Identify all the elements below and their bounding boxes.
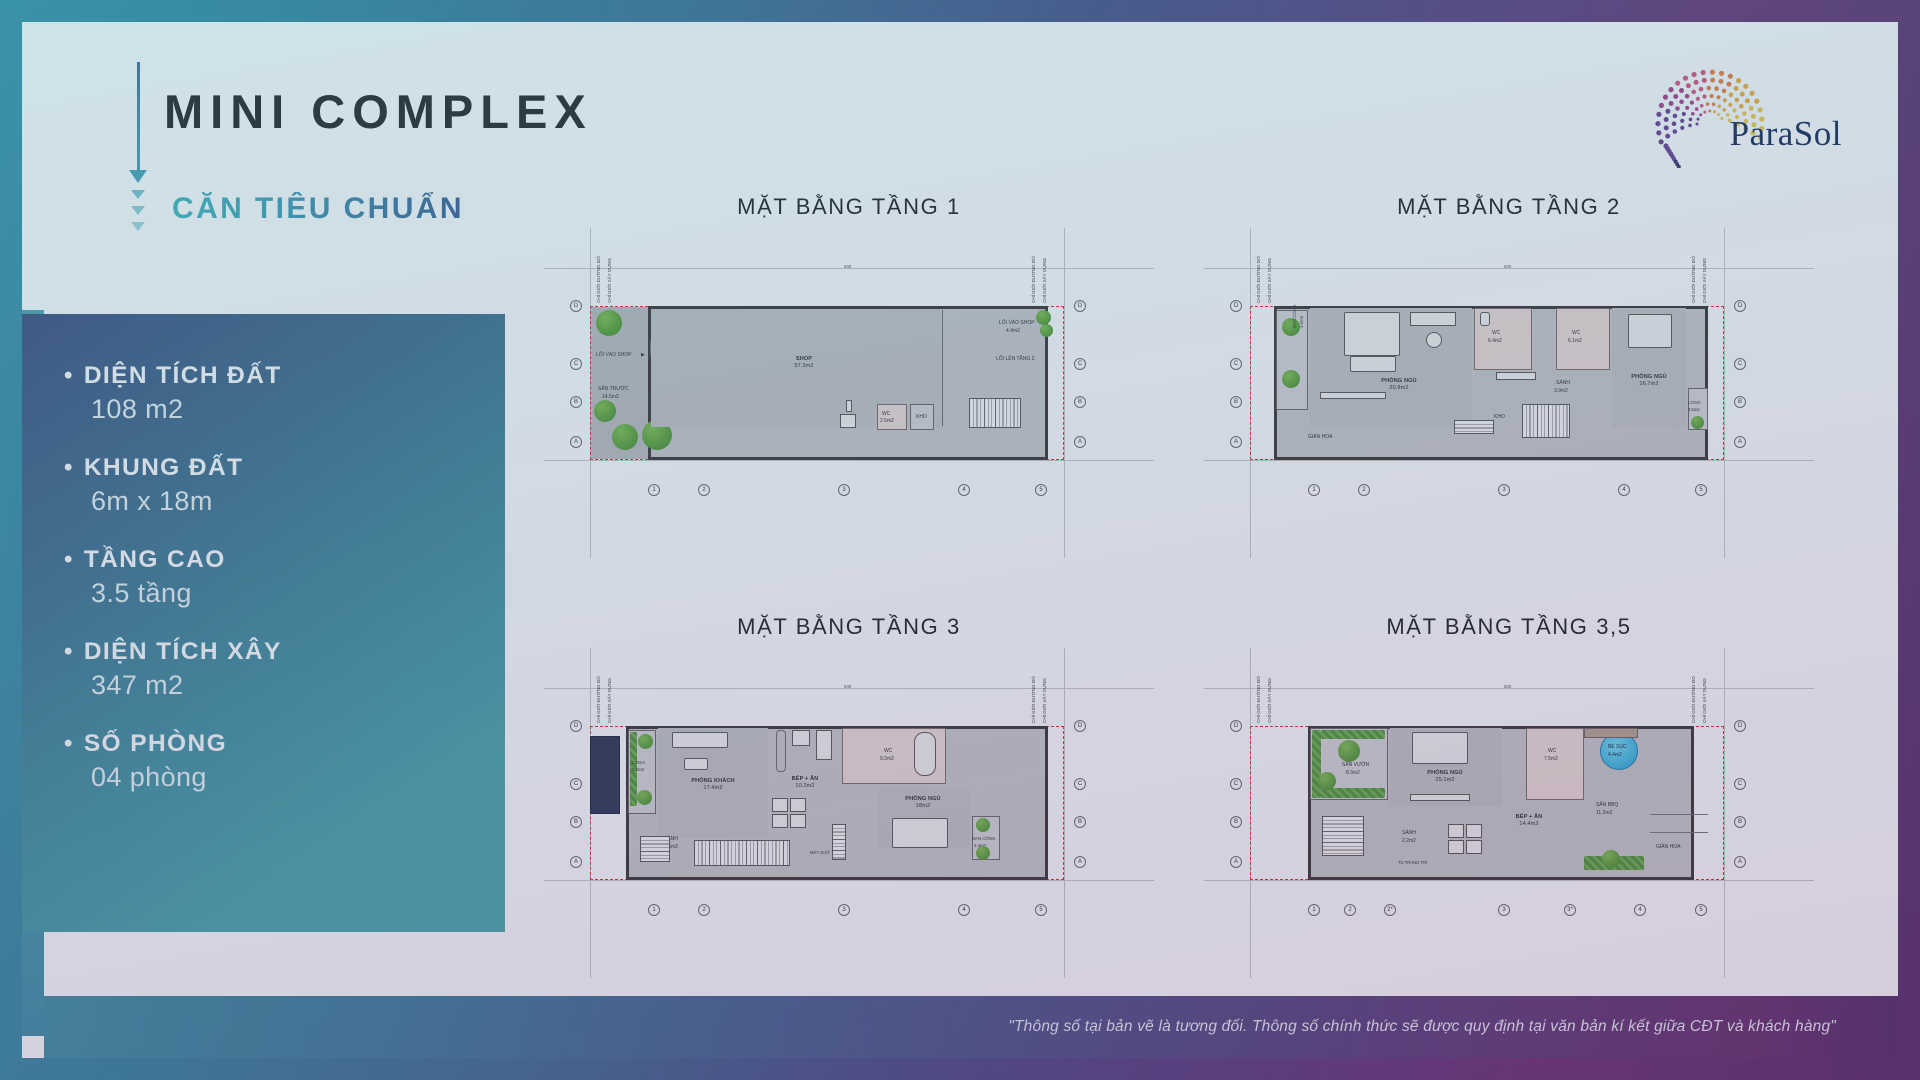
room-name: WC: [1572, 330, 1580, 336]
room-name: GIÀN HOA: [1656, 844, 1680, 850]
axis-bubble: 5: [1035, 904, 1047, 916]
arrow-rule: [137, 62, 140, 172]
edge-label-road: CHỈ GIỚI ĐƯỜNG ĐỎ: [1031, 256, 1036, 303]
axis-bubble: D: [1074, 300, 1086, 312]
edge-label-road: CHỈ GIỚI ĐƯỜNG ĐỎ: [1691, 256, 1696, 303]
floor-plan-2[interactable]: MẶT BẰNG TẦNG 2 600 CHỈ GIỚI ĐƯỜNG ĐỎ: [1204, 194, 1814, 574]
axis-bubble: B: [1734, 816, 1746, 828]
overall-dimension: 600: [1504, 264, 1511, 269]
axis-bubble: 5: [1035, 484, 1047, 496]
room-name: SÂN VƯỜN: [1342, 762, 1369, 768]
axis-bubble: 3*: [1564, 904, 1576, 916]
floor-plan-2-drawing: 600 CHỈ GIỚI ĐƯỜNG ĐỎ CHỈ GIỚI XÂY DỰNG …: [1204, 228, 1814, 558]
axis-bubble: 1: [1308, 484, 1320, 496]
room-name: BỂ SỤC: [1608, 744, 1627, 750]
axis-bubble: 4: [1634, 904, 1646, 916]
floor-plan-1[interactable]: MẶT BẰNG TẦNG 1 600 CHỈ G: [544, 194, 1154, 574]
room-label-bedroom-2: PHÒNG NGỦ 16.7m2: [1604, 374, 1694, 388]
spec-value: 3.5 tầng: [91, 578, 505, 609]
axis-bubble: C: [1074, 358, 1086, 370]
room-area: 3.5m2: [1688, 407, 1700, 412]
room-name: BẾP + ĂN: [760, 776, 850, 783]
spec-item-floors: • TẦNG CAO 3.5 tầng: [64, 546, 505, 609]
spec-item-build-area: • DIỆN TÍCH XÂY 347 m2: [64, 638, 505, 701]
axis-bubble: B: [570, 396, 582, 408]
axis-bubble: 3: [838, 484, 850, 496]
floor-plan-3-drawing: 600 CHỈ GIỚI ĐƯỜNG ĐỎ CHỈ GIỚI XÂY DỰNG …: [544, 648, 1154, 978]
spec-item-rooms: • SỐ PHÒNG 04 phòng: [64, 730, 505, 793]
axis-bubble: A: [1734, 436, 1746, 448]
entry-label-stair: LỐI LÊN TẦNG 2: [996, 356, 1035, 362]
slide-header: MINI COMPLEX CĂN TIÊU CHUẨN: [22, 22, 582, 292]
floor-plan-3-5-drawing: 600 CHỈ GIỚI ĐƯỜNG ĐỎ CHỈ GIỚI XÂY DỰNG …: [1204, 648, 1814, 978]
overall-dimension: 600: [844, 684, 851, 689]
axis-bubble: A: [570, 436, 582, 448]
axis-bubble: B: [1230, 816, 1242, 828]
room-name: PHÒNG NGỦ: [1604, 374, 1694, 381]
room-area: 20.8m2: [1389, 385, 1408, 391]
axis-bubble: 5: [1695, 484, 1707, 496]
room-name: GIÀN HOA: [1308, 434, 1332, 440]
floor-plan-1-title: MẶT BẰNG TẦNG 1: [544, 194, 1154, 220]
room-area: 8.3m2: [1346, 770, 1360, 776]
floor-plan-3-5-title: MẶT BẰNG TẦNG 3,5: [1204, 614, 1814, 640]
spec-label: KHUNG ĐẤT: [84, 454, 244, 482]
room-label-kitchen: BẾP + ĂN 14.4m2: [1484, 814, 1574, 828]
chevron-down-icon: [131, 222, 145, 231]
room-area: 14.5m2: [602, 394, 619, 400]
entry-area: 4.4m2: [1006, 328, 1020, 334]
axis-bubble: D: [570, 720, 582, 732]
axis-bubble: 4: [1618, 484, 1630, 496]
bullet-icon: •: [64, 640, 74, 664]
spec-label: SỐ PHÒNG: [84, 730, 227, 758]
room-area: 7.5m2: [1544, 756, 1558, 762]
axis-bubble: B: [570, 816, 582, 828]
room-name: LOGIA: [632, 760, 645, 765]
edge-label-build: CHỈ GIỚI XÂY DỰNG: [1267, 678, 1272, 723]
logo-wordmark: ParaSol: [1730, 114, 1842, 154]
edge-label-road: CHỈ GIỚI ĐƯỜNG ĐỎ: [1691, 676, 1696, 723]
room-area: 4.4m2: [1608, 752, 1622, 758]
room-area: 3.6m2: [1299, 316, 1304, 328]
arrow-head-icon: [129, 170, 147, 183]
axis-bubble: A: [570, 856, 582, 868]
room-name: SẢNH: [1402, 830, 1416, 836]
edge-label-road: CHỈ GIỚI ĐƯỜNG ĐỎ: [596, 676, 601, 723]
room-name: KHO: [916, 414, 927, 420]
bullet-icon: •: [64, 456, 74, 480]
room-name: KHO: [1494, 414, 1505, 420]
axis-bubble: C: [1230, 778, 1242, 790]
room-label-shop: SHOP 57.3m2: [744, 356, 864, 370]
room-area: 25.1m2: [1435, 777, 1454, 783]
edge-label-road: CHỈ GIỚI ĐƯỜNG ĐỎ: [1256, 676, 1261, 723]
axis-bubble: C: [570, 358, 582, 370]
spec-value: 6m x 18m: [91, 486, 505, 517]
entry-label-shop-2: LỐI VÀO SHOP: [999, 320, 1035, 326]
axis-bubble: C: [1230, 358, 1242, 370]
spec-value: 347 m2: [91, 670, 505, 701]
axis-bubble: C: [1734, 358, 1746, 370]
room-area: 16.7m2: [1639, 381, 1658, 387]
axis-bubble: B: [1230, 396, 1242, 408]
room-name: PHÒNG KHÁCH: [654, 778, 772, 785]
axis-bubble: 4: [958, 904, 970, 916]
room-area: 10.2m2: [795, 783, 814, 789]
room-area: 18m2: [916, 803, 930, 809]
room-area: 3.9m2: [1554, 388, 1568, 394]
axis-bubble: C: [1074, 778, 1086, 790]
axis-bubble: A: [1074, 436, 1086, 448]
room-name: PHÒNG NGỦ: [1354, 378, 1444, 385]
edge-label-road: CHỈ GIỚI ĐƯỜNG ĐỎ: [1031, 676, 1036, 723]
axis-bubble: D: [1230, 300, 1242, 312]
chevron-down-icon: [131, 206, 145, 215]
floor-plan-3-title: MẶT BẰNG TẦNG 3: [544, 614, 1154, 640]
room-name: BẾP + ĂN: [1484, 814, 1574, 821]
axis-bubble: D: [1074, 720, 1086, 732]
room-label-living: PHÒNG KHÁCH 17.4m2: [654, 778, 772, 792]
room-name: WC: [882, 411, 890, 417]
room-label-bedroom: PHÒNG NGỦ 25.1m2: [1390, 770, 1500, 784]
room-name: WC: [1548, 748, 1556, 754]
room-name: SÂN TRƯỚC: [598, 386, 628, 392]
room-name: LOGIA: [1688, 400, 1701, 405]
page-subtitle: CĂN TIÊU CHUẨN: [172, 192, 464, 226]
room-label-bedroom-1: PHÒNG NGỦ 20.8m2: [1354, 378, 1444, 392]
room-name: WC: [884, 748, 892, 754]
bullet-icon: •: [64, 732, 74, 756]
spec-value: 04 phòng: [91, 762, 505, 793]
entry-label-shop: LỐI VÀO SHOP: [596, 352, 632, 358]
spec-label: DIỆN TÍCH ĐẤT: [84, 362, 282, 390]
overall-dimension: 600: [1504, 684, 1511, 689]
edge-label-road: CHỈ GIỚI ĐƯỜNG ĐỎ: [596, 256, 601, 303]
axis-bubble: 4: [958, 484, 970, 496]
edge-label-build: CHỈ GIỚI XÂY DỰNG: [1702, 258, 1707, 303]
room-area: 9.2m2: [880, 756, 894, 762]
parasol-logo: ParaSol: [1636, 58, 1846, 168]
room-label-bedroom: PHÒNG NGỦ 18m2: [874, 796, 972, 810]
axis-bubble: 1: [1308, 904, 1320, 916]
spec-item-lot-size: • KHUNG ĐẤT 6m x 18m: [64, 454, 505, 517]
room-area: 17.4m2: [703, 785, 722, 791]
axis-bubble: 2: [698, 484, 710, 496]
edge-label-build: CHỈ GIỚI XÂY DỰNG: [1042, 678, 1047, 723]
room-area: 2.5m2: [880, 418, 894, 424]
edge-label-build: CHỈ GIỚI XÂY DỰNG: [1267, 258, 1272, 303]
axis-bubble: A: [1230, 856, 1242, 868]
spec-label: TẦNG CAO: [84, 546, 226, 574]
axis-bubble: 2: [698, 904, 710, 916]
slide-background: MINI COMPLEX CĂN TIÊU CHUẨN ParaSol • DI…: [0, 0, 1920, 1080]
axis-bubble: 1: [648, 484, 660, 496]
axis-bubble: 1: [648, 904, 660, 916]
room-name: WC: [1492, 330, 1500, 336]
bullet-icon: •: [64, 548, 74, 572]
decor-cabinet-label: TỦ TRANG TRÍ: [1398, 860, 1427, 865]
edge-label-build: CHỈ GIỚI XÂY DỰNG: [1042, 258, 1047, 303]
room-area: 2.2m2: [1402, 838, 1416, 844]
room-area: 14.4m2: [1519, 821, 1538, 827]
room-area: 6.1m2: [1568, 338, 1582, 344]
disclaimer-text: "Thông số tại bản vẽ là tương đối. Thông…: [1008, 1018, 1836, 1036]
room-area: 6.4m2: [1488, 338, 1502, 344]
axis-bubble: 2: [1344, 904, 1356, 916]
axis-bubble: B: [1734, 396, 1746, 408]
room-name: PHÒNG NGỦ: [1390, 770, 1500, 777]
axis-bubble: A: [1074, 856, 1086, 868]
room-name: SẢNH: [1556, 380, 1570, 386]
axis-bubble: 3: [1498, 904, 1510, 916]
washer-label: MÁY GIẶT: [810, 850, 830, 855]
axis-bubble: C: [1734, 778, 1746, 790]
axis-bubble: D: [1734, 300, 1746, 312]
axis-bubble: 5: [1695, 904, 1707, 916]
floor-plan-grid: MẶT BẰNG TẦNG 1 600 CHỈ G: [522, 194, 1902, 1044]
floor-plan-3[interactable]: MẶT BẰNG TẦNG 3 600 CHỈ GIỚI ĐƯỜNG ĐỎ: [544, 614, 1154, 994]
axis-bubble: D: [1230, 720, 1242, 732]
chevron-down-icon: [131, 190, 145, 199]
edge-label-road: CHỈ GIỚI ĐƯỜNG ĐỎ: [1256, 256, 1261, 303]
axis-bubble: 2: [1358, 484, 1370, 496]
edge-label-build: CHỈ GIỚI XÂY DỰNG: [607, 678, 612, 723]
axis-bubble: D: [1734, 720, 1746, 732]
bullet-icon: •: [64, 364, 74, 388]
axis-bubble: A: [1230, 436, 1242, 448]
axis-bubble: 3: [1498, 484, 1510, 496]
room-name: BAN CÔNG: [1292, 305, 1297, 328]
spec-panel: • DIỆN TÍCH ĐẤT 108 m2 • KHUNG ĐẤT 6m x …: [22, 314, 505, 932]
axis-bubble: B: [1074, 816, 1086, 828]
room-name: PHÒNG NGỦ: [874, 796, 972, 803]
room-area: 57.3m2: [794, 363, 813, 369]
axis-bubble: 2*: [1384, 904, 1396, 916]
spec-value: 108 m2: [91, 394, 505, 425]
spec-item-land-area: • DIỆN TÍCH ĐẤT 108 m2: [64, 362, 505, 425]
edge-label-build: CHỈ GIỚI XÂY DỰNG: [1702, 678, 1707, 723]
room-area: 11.2m2: [1596, 810, 1612, 816]
room-name: SÂN BBQ: [1596, 802, 1618, 808]
edge-label-build: CHỈ GIỚI XÂY DỰNG: [607, 258, 612, 303]
floor-plan-3-5[interactable]: MẶT BẰNG TẦNG 3,5 600 CHỈ GIỚI ĐƯỜNG Đ: [1204, 614, 1814, 994]
axis-bubble: B: [1074, 396, 1086, 408]
room-label-kitchen: BẾP + ĂN 10.2m2: [760, 776, 850, 790]
axis-bubble: A: [1734, 856, 1746, 868]
axis-bubble: D: [570, 300, 582, 312]
spec-label: DIỆN TÍCH XÂY: [84, 638, 282, 666]
slide-canvas: MINI COMPLEX CĂN TIÊU CHUẨN ParaSol • DI…: [22, 22, 1898, 1058]
room-area: 3.2m2: [632, 767, 644, 772]
axis-bubble: 3: [838, 904, 850, 916]
room-name: SHOP: [744, 356, 864, 363]
footer-bar: "Thông số tại bản vẽ là tương đối. Thông…: [44, 996, 1898, 1058]
floor-plan-1-drawing: 600 CHỈ GIỚI ĐƯỜNG ĐỎ CHỈ GIỚI XÂY DỰNG …: [544, 228, 1154, 558]
room-name: BAN CÔNG: [972, 836, 995, 841]
axis-bubble: C: [570, 778, 582, 790]
overall-dimension: 600: [844, 264, 851, 269]
page-title: MINI COMPLEX: [164, 84, 593, 139]
floor-plan-2-title: MẶT BẰNG TẦNG 2: [1204, 194, 1814, 220]
